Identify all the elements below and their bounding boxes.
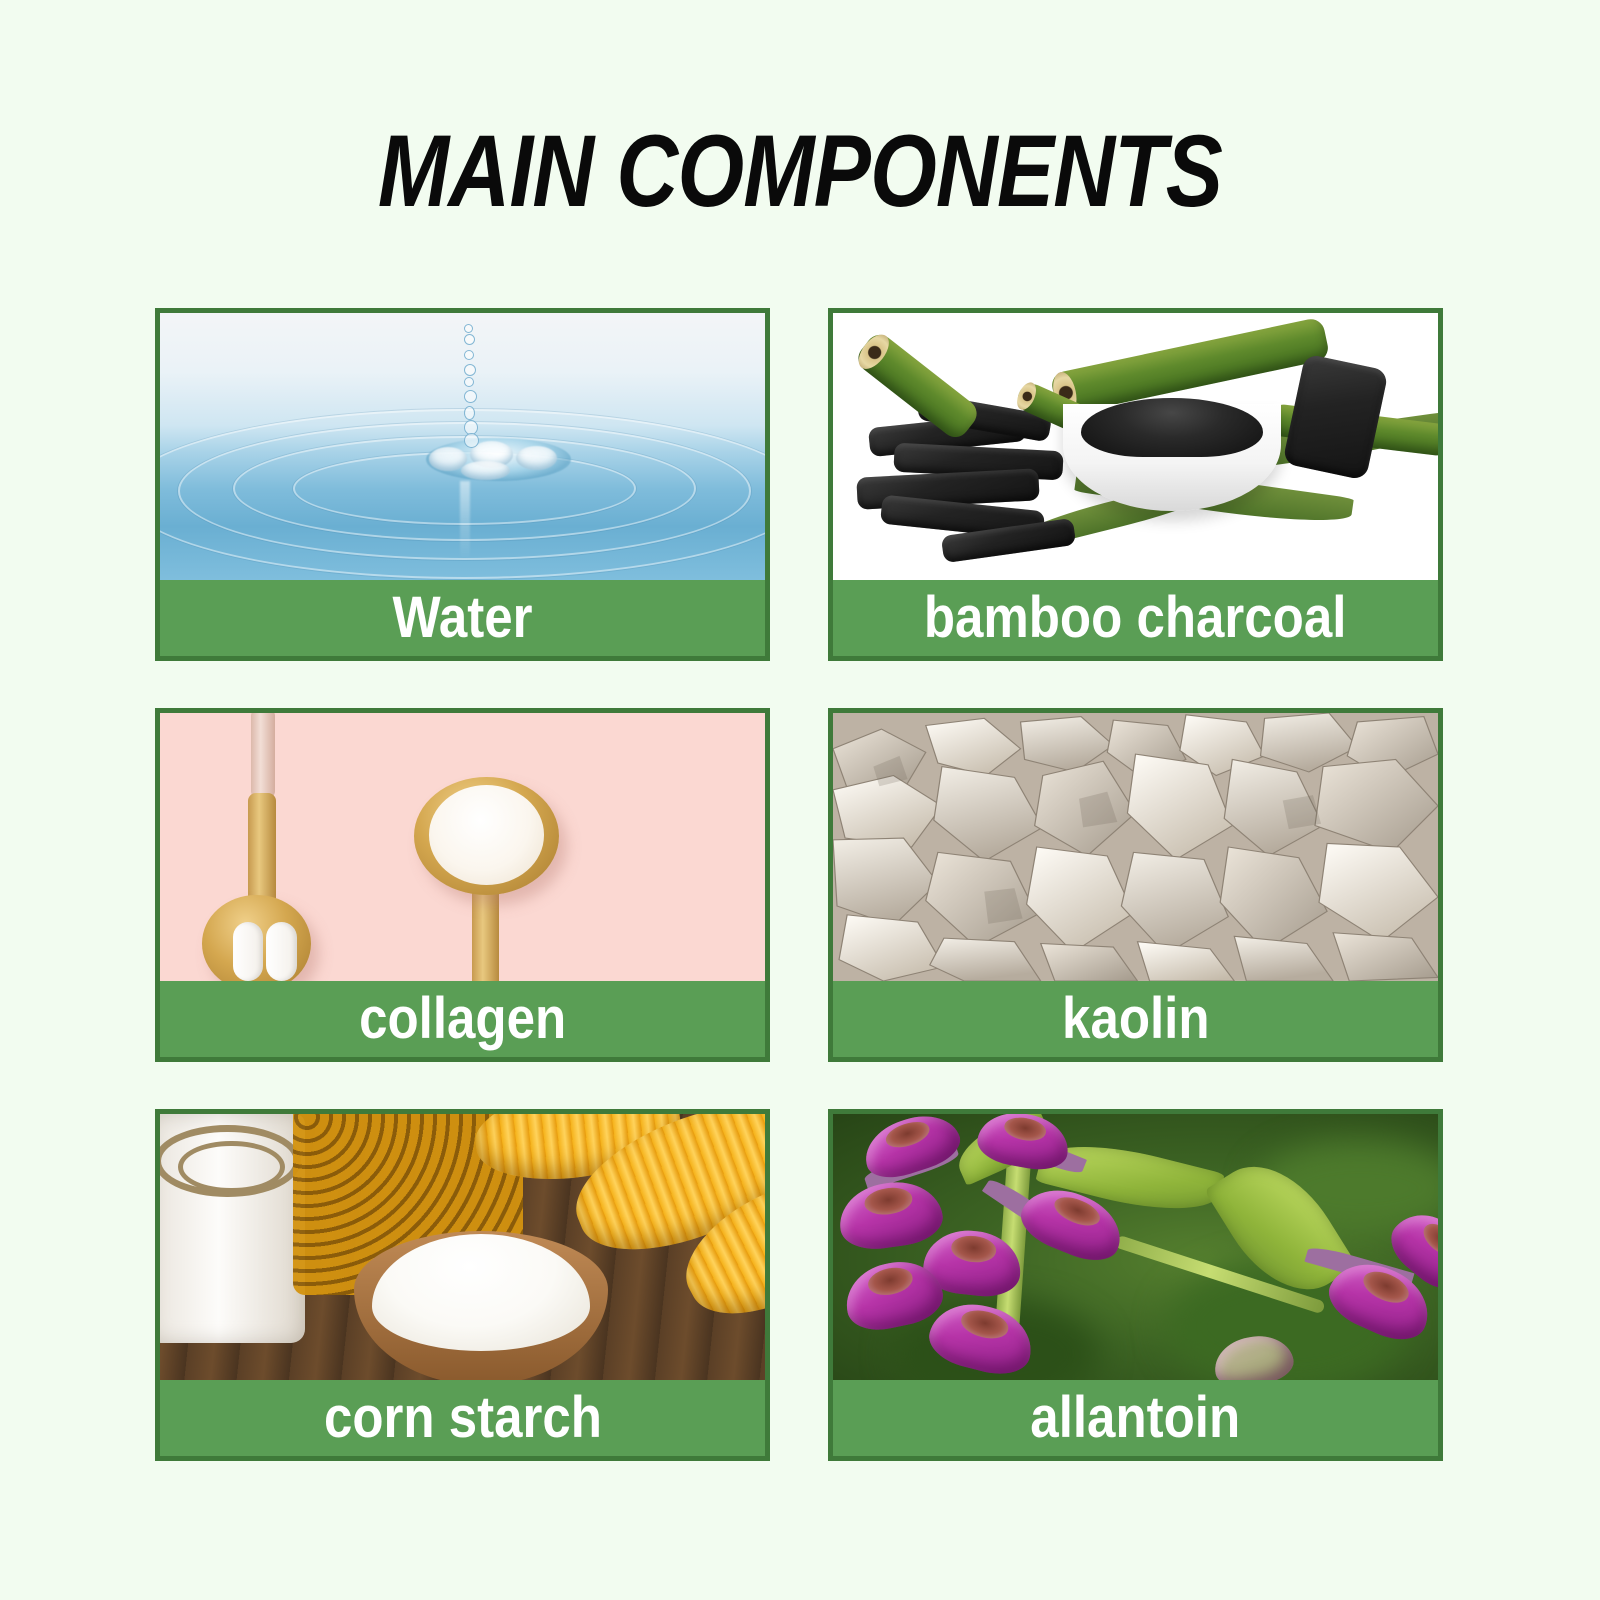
- component-label-text: collagen: [359, 990, 566, 1048]
- component-label-text: allantoin: [1031, 1389, 1241, 1447]
- component-card-corn-starch[interactable]: corn starch: [155, 1109, 770, 1461]
- allantoin-photo: [833, 1114, 1438, 1380]
- bamboo-charcoal-photo: [833, 313, 1438, 580]
- component-label-corn-starch: corn starch: [160, 1380, 765, 1456]
- page-title: MAIN COMPONENTS: [128, 118, 1472, 225]
- component-card-kaolin[interactable]: kaolin: [828, 708, 1443, 1062]
- component-label-text: Water: [393, 589, 533, 647]
- component-label-text: corn starch: [324, 1389, 602, 1447]
- component-label-collagen: collagen: [160, 981, 765, 1057]
- collagen-photo: [160, 713, 765, 981]
- kaolin-rock-pile: [833, 713, 1438, 981]
- component-card-allantoin[interactable]: allantoin: [828, 1109, 1443, 1461]
- corn-starch-photo: [160, 1114, 765, 1380]
- infographic-page: MAIN COMPONENTS: [0, 0, 1600, 1600]
- component-card-water[interactable]: Water: [155, 308, 770, 661]
- water-photo: [160, 313, 765, 580]
- component-label-kaolin: kaolin: [833, 981, 1438, 1057]
- component-card-collagen[interactable]: collagen: [155, 708, 770, 1062]
- component-label-water: Water: [160, 580, 765, 656]
- kaolin-photo: [833, 713, 1438, 981]
- component-label-text: bamboo charcoal: [924, 589, 1347, 647]
- component-label-allantoin: allantoin: [833, 1380, 1438, 1456]
- component-card-bamboo-charcoal[interactable]: bamboo charcoal: [828, 308, 1443, 661]
- component-label-bamboo-charcoal: bamboo charcoal: [833, 580, 1438, 656]
- components-grid: Water: [155, 308, 1443, 1462]
- component-label-text: kaolin: [1062, 990, 1209, 1048]
